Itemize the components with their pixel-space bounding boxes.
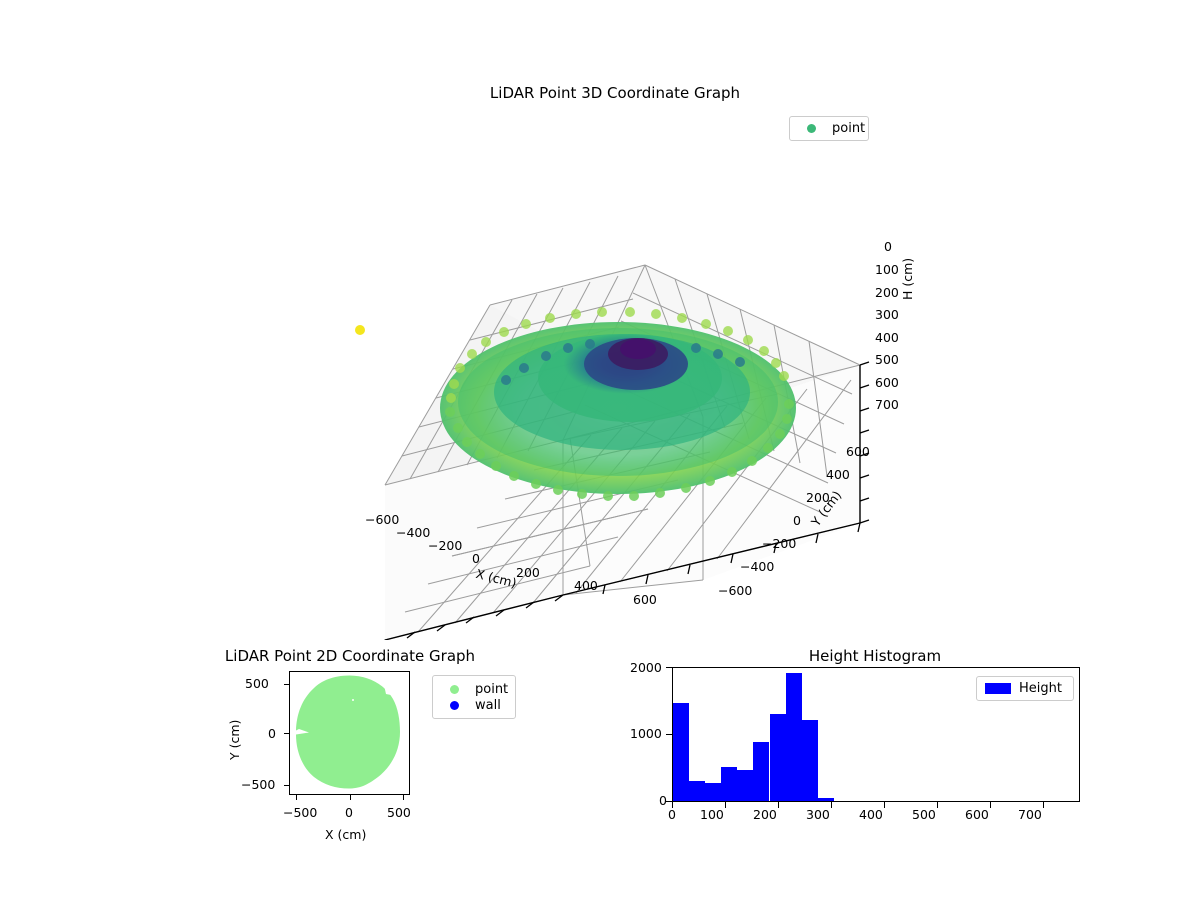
ytick-600: 600	[846, 444, 870, 459]
ztick-200: 200	[875, 285, 899, 300]
x2d-tick-500: 500	[387, 805, 411, 820]
x2d-axis-label: X (cm)	[325, 827, 366, 842]
height-bar-icon	[985, 683, 1011, 694]
page-title-3d: LiDAR Point 3D Coordinate Graph	[400, 84, 830, 102]
y2d-axis-label: Y (cm)	[227, 720, 242, 760]
x2d-tick-m500: −500	[283, 805, 317, 820]
yhist-tick-1000: 1000	[630, 726, 662, 741]
hist-bar	[753, 742, 769, 801]
hist-xtick-mark	[884, 802, 885, 808]
hist-bar	[705, 783, 721, 801]
wall-marker-icon	[441, 701, 467, 710]
ztick-700: 700	[875, 397, 899, 412]
ax2d-ytick-mark	[284, 785, 289, 786]
lidar-2d-scatter	[290, 672, 409, 794]
x2d-tick-0: 0	[345, 805, 353, 820]
hist-xtick-mark	[725, 802, 726, 808]
y2d-tick-0: 0	[268, 726, 276, 741]
legend-hist[interactable]: Height	[976, 676, 1074, 701]
ax2d-xtick-mark	[403, 795, 404, 800]
xhist-tick-700: 700	[1018, 807, 1042, 822]
hist-xtick-mark	[937, 802, 938, 808]
hist-bar	[786, 673, 802, 801]
ztick-300: 300	[875, 307, 899, 322]
ytick-m600: −600	[718, 583, 752, 598]
xhist-tick-600: 600	[965, 807, 989, 822]
legend-label-point: point	[824, 121, 865, 136]
hist-bar	[737, 770, 753, 801]
lidar-3d-plot	[300, 140, 920, 640]
page-title-hist: Height Histogram	[730, 647, 1020, 665]
outlier-point	[355, 325, 365, 335]
xtick-m200: −200	[428, 538, 462, 553]
hist-bar	[770, 714, 786, 801]
hist-xtick-mark	[778, 802, 779, 808]
xhist-tick-500: 500	[912, 807, 936, 822]
ztick-600: 600	[875, 375, 899, 390]
yhist-tick-2000: 2000	[630, 660, 662, 675]
hist-bar	[721, 767, 737, 801]
xhist-tick-100: 100	[700, 807, 724, 822]
ax2d-xtick-mark	[296, 795, 297, 800]
xhist-tick-400: 400	[859, 807, 883, 822]
zaxis-label: H (cm)	[900, 258, 915, 300]
legend-label-point-2d: point	[467, 682, 508, 697]
hist-bar	[689, 781, 705, 801]
xhist-tick-200: 200	[753, 807, 777, 822]
hist-xtick-mark	[831, 802, 832, 808]
xtick-600: 600	[633, 592, 657, 607]
xtick-m400: −400	[396, 525, 430, 540]
ztick-400: 400	[875, 330, 899, 345]
ytick-m200: −200	[762, 536, 796, 551]
hist-ytick-mark	[666, 734, 672, 735]
legend-entry-point: point	[798, 121, 860, 136]
legend-entry-height: Height	[985, 681, 1065, 696]
legend-label-height: Height	[1011, 681, 1062, 696]
xhist-tick-300: 300	[806, 807, 830, 822]
legend-3d[interactable]: point	[789, 116, 869, 141]
hist-ytick-mark	[666, 667, 672, 668]
ax2d-xtick-mark	[350, 795, 351, 800]
xtick-400: 400	[574, 578, 598, 593]
ax2d-ytick-mark	[284, 733, 289, 734]
figure-canvas: LiDAR Point 3D Coordinate Graph	[0, 0, 1200, 900]
point-marker-icon	[441, 685, 467, 694]
lidar-2d-axes[interactable]	[289, 671, 410, 795]
hist-ytick-mark	[666, 801, 672, 802]
legend-entry-wall-2d: wall	[441, 697, 507, 713]
legend-entry-point-2d: point	[441, 681, 507, 697]
ztick-0: 0	[884, 239, 892, 254]
point-marker-icon	[798, 124, 824, 133]
hist-bar	[818, 798, 834, 801]
hist-xtick-mark	[990, 802, 991, 808]
ytick-m400: −400	[740, 559, 774, 574]
xtick-m600: −600	[365, 512, 399, 527]
ztick-500: 500	[875, 352, 899, 367]
lidar-3d-axes[interactable]	[300, 140, 920, 640]
page-title-2d: LiDAR Point 2D Coordinate Graph	[205, 647, 495, 665]
ytick-400: 400	[826, 467, 850, 482]
xhist-tick-0: 0	[668, 807, 676, 822]
y2d-tick-m500: −500	[241, 777, 275, 792]
hist-xtick-mark	[672, 802, 673, 808]
xtick-200: 200	[516, 565, 540, 580]
ytick-0: 0	[793, 513, 801, 528]
legend-2d[interactable]: point wall	[432, 675, 516, 719]
hist-bar	[673, 703, 689, 801]
ztick-100: 100	[875, 262, 899, 277]
hist-xtick-mark	[1043, 802, 1044, 808]
legend-label-wall-2d: wall	[467, 698, 501, 713]
hist-bar	[802, 720, 818, 801]
y2d-tick-500: 500	[245, 676, 269, 691]
ax2d-ytick-mark	[284, 684, 289, 685]
xtick-0: 0	[472, 551, 480, 566]
